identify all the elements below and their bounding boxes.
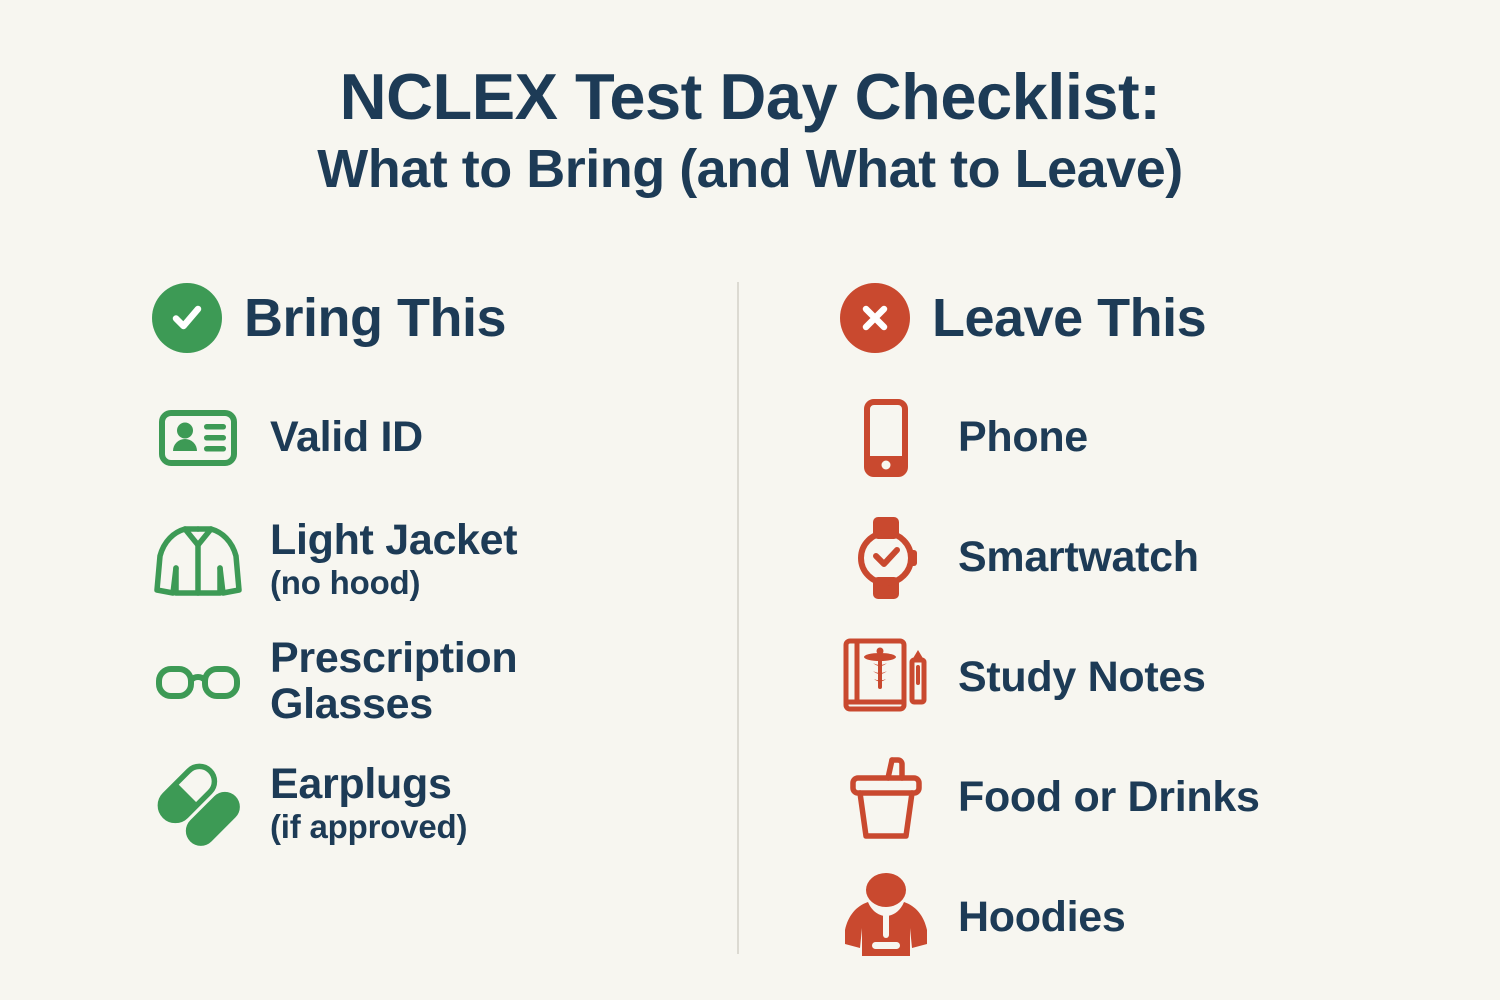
page-title: NCLEX Test Day Checklist: [0,62,1500,132]
earplugs-icon [152,758,244,850]
list-item-label: Phone [958,415,1088,461]
leave-item-list: Phone Smartwatch [840,386,1460,970]
list-item: Earplugs (if approved) [152,752,712,856]
title-block: NCLEX Test Day Checklist: What to Bring … [0,62,1500,200]
list-item-sub: (no hood) [270,565,517,602]
list-item-text: Light Jacket (no hood) [270,518,517,602]
list-item-text: Hoodies [958,895,1126,941]
smartwatch-icon [840,512,932,604]
list-item-label: Earplugs [270,762,467,808]
phone-icon [840,392,932,484]
hoodie-icon [840,872,932,964]
list-item-label: Study Notes [958,655,1206,701]
list-item: Hoodies [840,866,1460,970]
jacket-icon [152,514,244,606]
list-item: Prescription Glasses [152,630,712,734]
list-item-label: Prescription Glasses [270,636,600,727]
list-item-text: Earplugs (if approved) [270,762,467,846]
column-divider [737,282,739,954]
bring-item-list: Valid ID [152,386,712,856]
list-item-text: Study Notes [958,655,1206,701]
list-item-text: Food or Drinks [958,775,1260,821]
page-subtitle: What to Bring (and What to Leave) [0,140,1500,199]
bring-column: Bring This Valid ID [152,280,712,856]
drink-cup-icon [840,752,932,844]
leave-column-header: Leave This [840,280,1460,356]
glasses-icon [152,636,244,728]
list-item-text: Valid ID [270,415,423,461]
list-item: Valid ID [152,386,712,490]
id-card-icon [152,392,244,484]
list-item-text: Prescription Glasses [270,636,600,727]
x-circle-icon [840,283,910,353]
bring-column-header: Bring This [152,280,712,356]
infographic-page: NCLEX Test Day Checklist: What to Bring … [0,0,1500,1000]
list-item: Food or Drinks [840,746,1460,850]
list-item: Light Jacket (no hood) [152,508,712,612]
list-item-sub: (if approved) [270,809,467,846]
list-item-label: Valid ID [270,415,423,461]
list-item-label: Food or Drinks [958,775,1260,821]
list-item-text: Phone [958,415,1088,461]
list-item-label: Light Jacket [270,518,517,564]
list-item-text: Smartwatch [958,535,1199,581]
check-circle-icon [152,283,222,353]
list-item-label: Smartwatch [958,535,1199,581]
study-notes-icon [840,632,932,724]
leave-column: Leave This Phone [840,280,1460,970]
list-item: Smartwatch [840,506,1460,610]
bring-column-title: Bring This [244,287,506,349]
leave-column-title: Leave This [932,287,1206,349]
list-item-label: Hoodies [958,895,1126,941]
list-item: Study Notes [840,626,1460,730]
list-item: Phone [840,386,1460,490]
